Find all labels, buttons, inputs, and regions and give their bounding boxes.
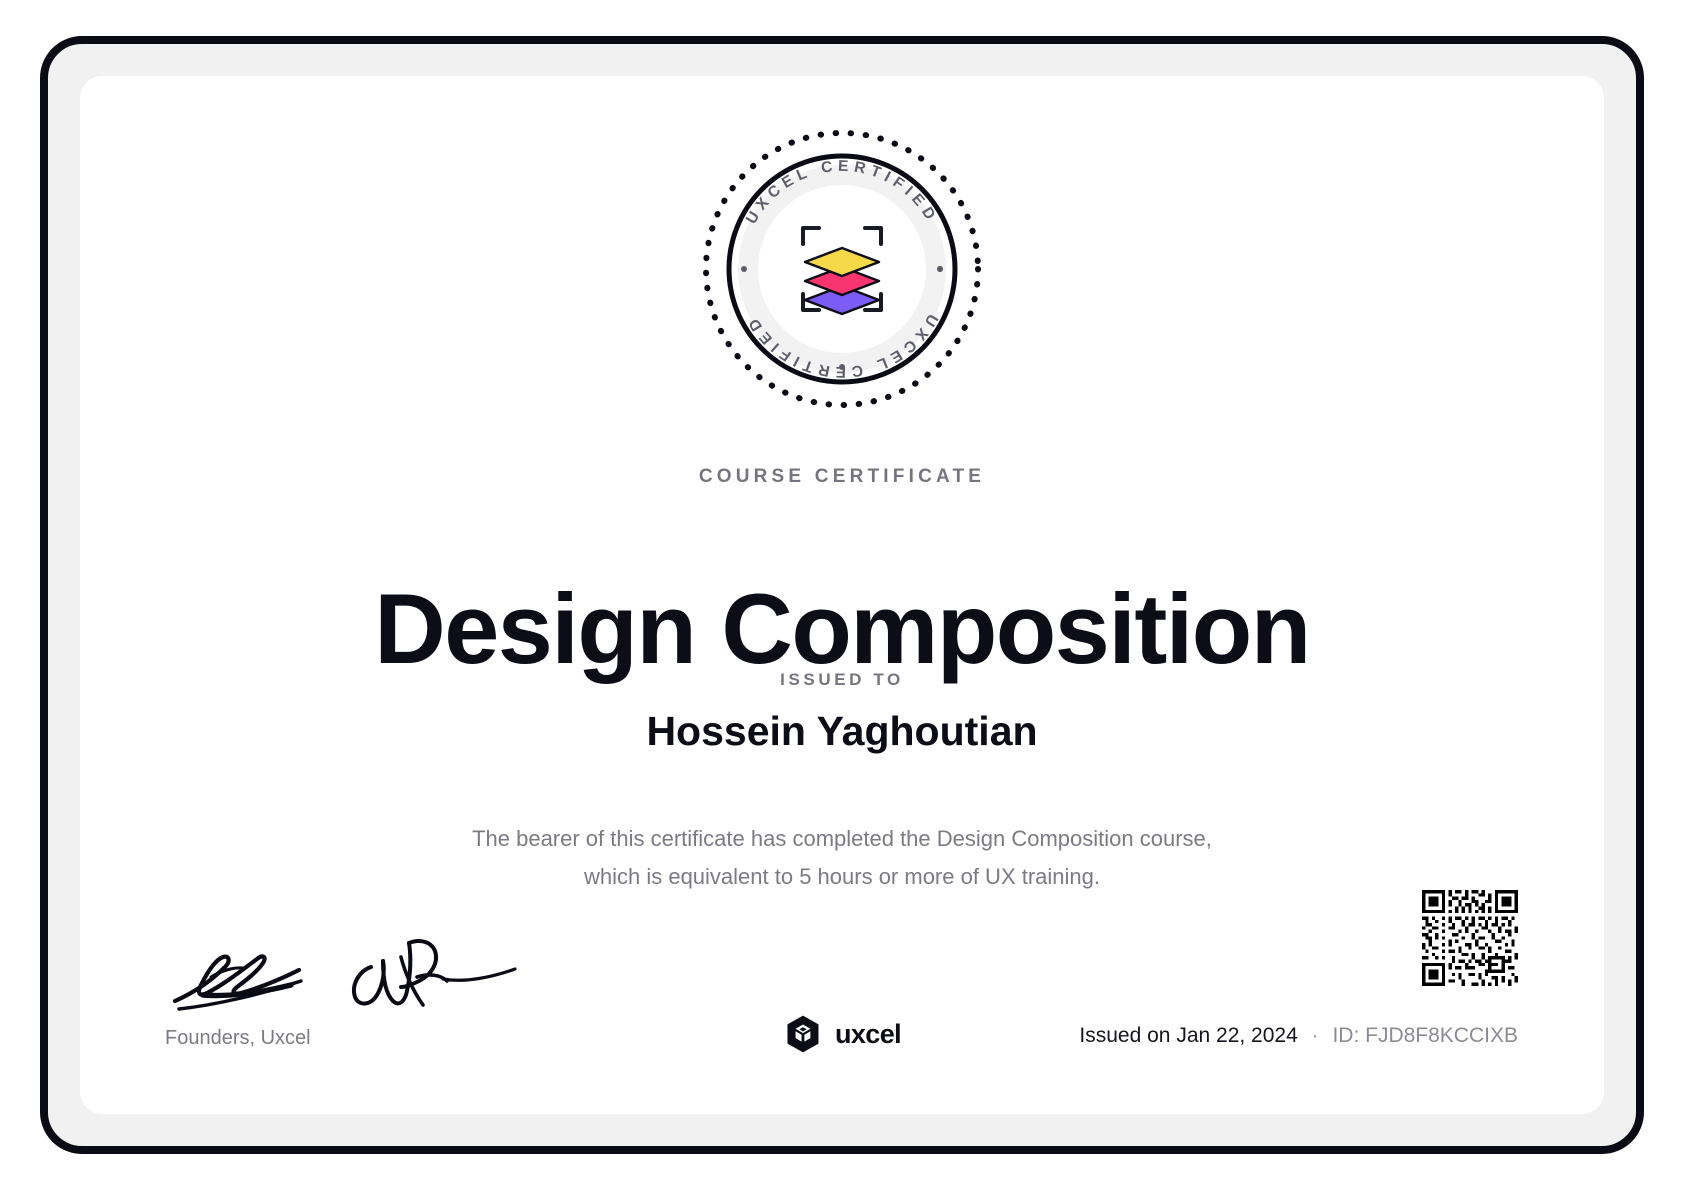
signature-caption: Founders, Uxcel — [165, 1027, 585, 1050]
description-line-2: which is equivalent to 5 hours or more o… — [584, 864, 1100, 889]
verification-qr-code[interactable] — [1422, 890, 1518, 986]
certificate-card: UXCEL CERTIFIED UXCEL CERTIFIED — [80, 76, 1604, 1114]
qr-code-graphic — [1422, 890, 1518, 986]
uxcel-wordmark: uxcel — [835, 1019, 901, 1050]
issued-to-label: ISSUED TO — [80, 670, 1604, 690]
meta-separator: · — [1304, 1024, 1327, 1047]
course-certificate-kicker: COURSE CERTIFICATE — [80, 466, 1604, 488]
signature-block: Founders, Uxcel — [165, 931, 585, 1050]
issue-metadata: Issued on Jan 22, 2024 · ID: FJD8F8KCCIX… — [1079, 1024, 1518, 1048]
founder-signature-2 — [337, 933, 527, 1015]
certificate-id: ID: FJD8F8KCCIXB — [1332, 1024, 1518, 1047]
issue-date: Issued on Jan 22, 2024 — [1079, 1024, 1297, 1047]
signature-row — [165, 931, 585, 1017]
uxcel-brand-logo: uxcel — [783, 1014, 901, 1054]
uxcel-layers-icon — [805, 248, 879, 314]
uxcel-certified-seal: UXCEL CERTIFIED UXCEL CERTIFIED — [697, 124, 987, 414]
certificate-frame: UXCEL CERTIFIED UXCEL CERTIFIED — [40, 36, 1644, 1154]
uxcel-hexagon-icon — [783, 1014, 823, 1054]
seal-graphic: UXCEL CERTIFIED UXCEL CERTIFIED — [697, 124, 987, 414]
description-line-1: The bearer of this certificate has compl… — [472, 826, 1212, 851]
certificate-description: The bearer of this certificate has compl… — [392, 820, 1292, 896]
recipient-name: Hossein Yaghoutian — [80, 708, 1604, 755]
